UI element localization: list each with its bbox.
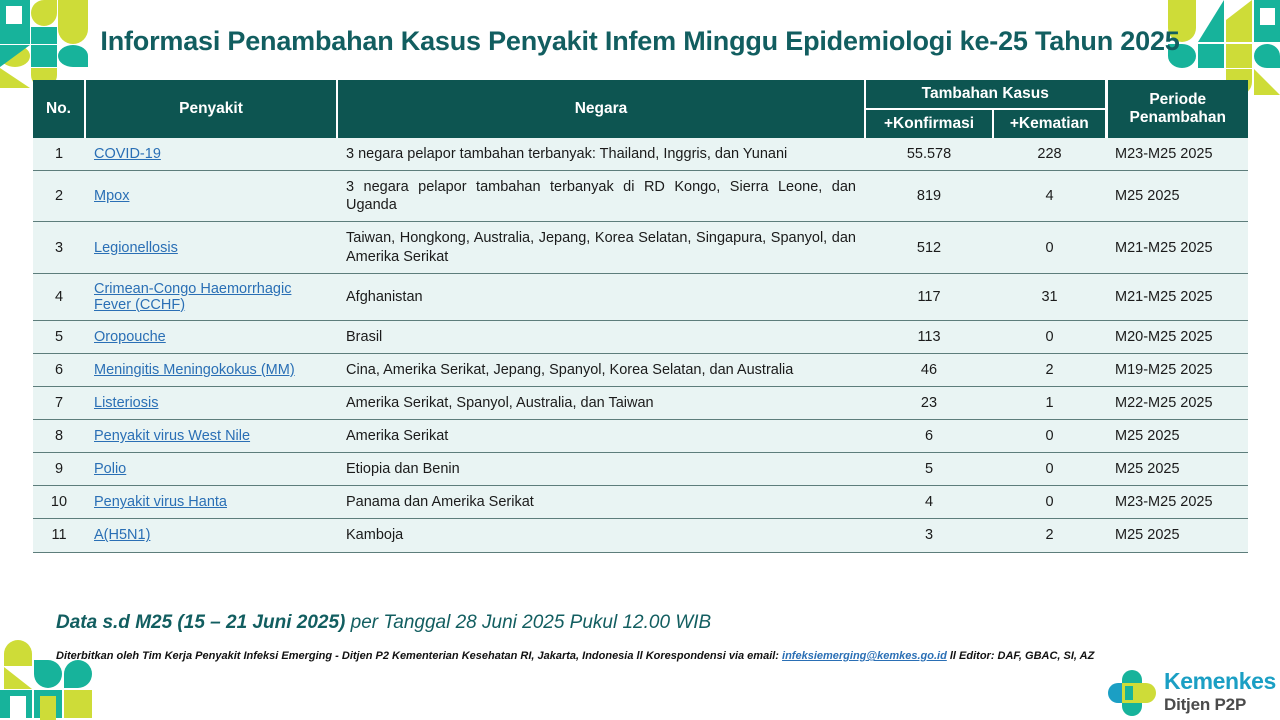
cell-periode: M25 2025: [1106, 519, 1248, 552]
ornament-shape: [10, 696, 26, 720]
cell-konfirmasi: 512: [865, 222, 993, 273]
disease-link[interactable]: Listeriosis: [94, 395, 158, 411]
table-head: No. Penyakit Negara Tambahan Kasus Perio…: [33, 80, 1248, 138]
cell-no: 11: [33, 519, 85, 552]
table-row: 6Meningitis Meningokokus (MM)Cina, Ameri…: [33, 353, 1248, 386]
cell-negara: Afghanistan: [337, 273, 865, 320]
table-row: 3LegionellosisTaiwan, Hongkong, Australi…: [33, 222, 1248, 273]
footer-publisher: Diterbitkan oleh Tim Kerja Penyakit Infe…: [56, 650, 1094, 662]
disease-link[interactable]: Oropouche: [94, 329, 166, 345]
disease-link[interactable]: Mpox: [94, 188, 129, 204]
disease-link[interactable]: Penyakit virus West Nile: [94, 428, 250, 444]
cell-kematian: 0: [993, 486, 1106, 519]
logo-text-ditjen: Ditjen P2P: [1164, 695, 1246, 715]
cell-negara: 3 negara pelapor tambahan terbanyak: Tha…: [337, 138, 865, 171]
cell-periode: M23-M25 2025: [1106, 138, 1248, 171]
footer-data-timestamp: per Tanggal 28 Juni 2025 Pukul 12.00 WIB: [345, 612, 711, 633]
cell-konfirmasi: 3: [865, 519, 993, 552]
table-row: 1COVID-193 negara pelapor tambahan terba…: [33, 138, 1248, 171]
ornament-shape: [6, 6, 22, 24]
cell-penyakit: A(H5N1): [85, 519, 337, 552]
cell-penyakit: Polio: [85, 453, 337, 486]
cell-no: 9: [33, 453, 85, 486]
cell-konfirmasi: 819: [865, 171, 993, 222]
cell-kematian: 2: [993, 353, 1106, 386]
ornament-shape: [1260, 8, 1275, 25]
ornament-shape: [34, 660, 62, 688]
ornament-shape: [31, 45, 57, 67]
cell-konfirmasi: 117: [865, 273, 993, 320]
ornament-shape: [4, 667, 32, 689]
disease-link[interactable]: COVID-19: [94, 146, 161, 162]
col-header-kematian: +Kematian: [993, 109, 1106, 138]
col-header-penyakit: Penyakit: [85, 80, 337, 138]
col-header-tambahan-kasus: Tambahan Kasus: [865, 80, 1106, 109]
cell-no: 1: [33, 138, 85, 171]
table-row: 7ListeriosisAmerika Serikat, Spanyol, Au…: [33, 386, 1248, 419]
ornament-shape: [1254, 69, 1280, 95]
cell-penyakit: COVID-19: [85, 138, 337, 171]
table-row: 4Crimean-Congo Haemorrhagic Fever (CCHF)…: [33, 273, 1248, 320]
cell-kematian: 0: [993, 420, 1106, 453]
cell-periode: M25 2025: [1106, 171, 1248, 222]
table-row: 9PolioEtiopia dan Benin50M25 2025: [33, 453, 1248, 486]
ornament-shape: [0, 45, 30, 67]
ornament-shape: [1254, 44, 1280, 68]
cell-no: 7: [33, 386, 85, 419]
cell-konfirmasi: 113: [865, 320, 993, 353]
ornament-shape: [4, 640, 32, 666]
logo-text-kemenkes: Kemenkes: [1164, 668, 1276, 695]
col-header-no: No.: [33, 80, 85, 138]
ornament-shape: [1226, 44, 1252, 68]
col-header-konfirmasi: +Konfirmasi: [865, 109, 993, 138]
cell-penyakit: Meningitis Meningokokus (MM): [85, 353, 337, 386]
cell-periode: M25 2025: [1106, 420, 1248, 453]
table-row: 5OropoucheBrasil1130M20-M25 2025: [33, 320, 1248, 353]
ornament-shape: [31, 27, 57, 44]
footer-editor-text: ll Editor: DAF, GBAC, SI, AZ: [947, 650, 1094, 662]
cell-kematian: 1: [993, 386, 1106, 419]
cell-negara: Amerika Serikat: [337, 420, 865, 453]
cell-konfirmasi: 5: [865, 453, 993, 486]
disease-link[interactable]: Meningitis Meningokokus (MM): [94, 362, 295, 378]
cell-penyakit: Crimean-Congo Haemorrhagic Fever (CCHF): [85, 273, 337, 320]
page-title: Informasi Penambahan Kasus Penyakit Infe…: [60, 26, 1220, 57]
cell-no: 6: [33, 353, 85, 386]
cell-no: 5: [33, 320, 85, 353]
cell-negara: Kamboja: [337, 519, 865, 552]
cell-periode: M19-M25 2025: [1106, 353, 1248, 386]
table-row: 8Penyakit virus West NileAmerika Serikat…: [33, 420, 1248, 453]
kemenkes-logo-mark: [1108, 670, 1156, 716]
cell-konfirmasi: 4: [865, 486, 993, 519]
table-container: No. Penyakit Negara Tambahan Kasus Perio…: [33, 80, 1248, 553]
cell-no: 10: [33, 486, 85, 519]
col-header-negara: Negara: [337, 80, 865, 138]
cell-negara: Taiwan, Hongkong, Australia, Jepang, Kor…: [337, 222, 865, 273]
cell-penyakit: Mpox: [85, 171, 337, 222]
cell-periode: M21-M25 2025: [1106, 273, 1248, 320]
cell-kematian: 4: [993, 171, 1106, 222]
slide-root: Informasi Penambahan Kasus Penyakit Infe…: [0, 0, 1280, 720]
cell-periode: M22-M25 2025: [1106, 386, 1248, 419]
ornament-shape: [0, 68, 30, 88]
footer-data-note: Data s.d M25 (15 – 21 Juni 2025) per Tan…: [56, 612, 711, 634]
table-row: 11A(H5N1)Kamboja32M25 2025: [33, 519, 1248, 552]
cell-no: 8: [33, 420, 85, 453]
disease-link[interactable]: Crimean-Congo Haemorrhagic Fever (CCHF): [94, 281, 291, 313]
cell-negara: Amerika Serikat, Spanyol, Australia, dan…: [337, 386, 865, 419]
ornament-shape: [64, 660, 92, 688]
disease-link[interactable]: A(H5N1): [94, 527, 150, 543]
table-row: 2Mpox3 negara pelapor tambahan terbanyak…: [33, 171, 1248, 222]
cell-konfirmasi: 23: [865, 386, 993, 419]
cell-kematian: 0: [993, 453, 1106, 486]
cell-no: 4: [33, 273, 85, 320]
cell-no: 2: [33, 171, 85, 222]
cell-kematian: 31: [993, 273, 1106, 320]
cell-konfirmasi: 46: [865, 353, 993, 386]
footer-data-period: Data s.d M25 (15 – 21 Juni 2025): [56, 612, 345, 633]
disease-link[interactable]: Legionellosis: [94, 240, 178, 256]
cell-penyakit: Penyakit virus West Nile: [85, 420, 337, 453]
ornament-shape: [64, 690, 92, 718]
cell-negara: Brasil: [337, 320, 865, 353]
cell-kematian: 2: [993, 519, 1106, 552]
cell-penyakit: Legionellosis: [85, 222, 337, 273]
cell-penyakit: Oropouche: [85, 320, 337, 353]
disease-link[interactable]: Penyakit virus Hanta: [94, 494, 227, 510]
disease-table: No. Penyakit Negara Tambahan Kasus Perio…: [33, 80, 1248, 553]
table-row: 10Penyakit virus HantaPanama dan Amerika…: [33, 486, 1248, 519]
table-header-row-1: No. Penyakit Negara Tambahan Kasus Perio…: [33, 80, 1248, 109]
logo-center-inner: [1125, 686, 1133, 700]
footer-email-link[interactable]: infeksiemerging@kemkes.go.id: [782, 650, 947, 662]
ornament-shape: [1226, 0, 1252, 20]
disease-link[interactable]: Polio: [94, 461, 126, 477]
footer-publisher-text: Diterbitkan oleh Tim Kerja Penyakit Infe…: [56, 650, 782, 662]
table-body: 1COVID-193 negara pelapor tambahan terba…: [33, 138, 1248, 552]
cell-kematian: 0: [993, 222, 1106, 273]
cell-periode: M20-M25 2025: [1106, 320, 1248, 353]
cell-kematian: 228: [993, 138, 1106, 171]
cell-penyakit: Penyakit virus Hanta: [85, 486, 337, 519]
cell-penyakit: Listeriosis: [85, 386, 337, 419]
cell-konfirmasi: 55.578: [865, 138, 993, 171]
cell-konfirmasi: 6: [865, 420, 993, 453]
cell-no: 3: [33, 222, 85, 273]
cell-periode: M21-M25 2025: [1106, 222, 1248, 273]
cell-negara: 3 negara pelapor tambahan terbanyak di R…: [337, 171, 865, 222]
col-header-periode: Periode Penambahan: [1106, 80, 1248, 138]
cell-negara: Panama dan Amerika Serikat: [337, 486, 865, 519]
ornament-shape: [31, 0, 57, 26]
cell-kematian: 0: [993, 320, 1106, 353]
cell-negara: Cina, Amerika Serikat, Jepang, Spanyol, …: [337, 353, 865, 386]
ornament-shape: [40, 696, 56, 720]
cell-periode: M23-M25 2025: [1106, 486, 1248, 519]
cell-periode: M25 2025: [1106, 453, 1248, 486]
kemenkes-logo: Kemenkes Ditjen P2P: [1108, 668, 1280, 720]
cell-negara: Etiopia dan Benin: [337, 453, 865, 486]
